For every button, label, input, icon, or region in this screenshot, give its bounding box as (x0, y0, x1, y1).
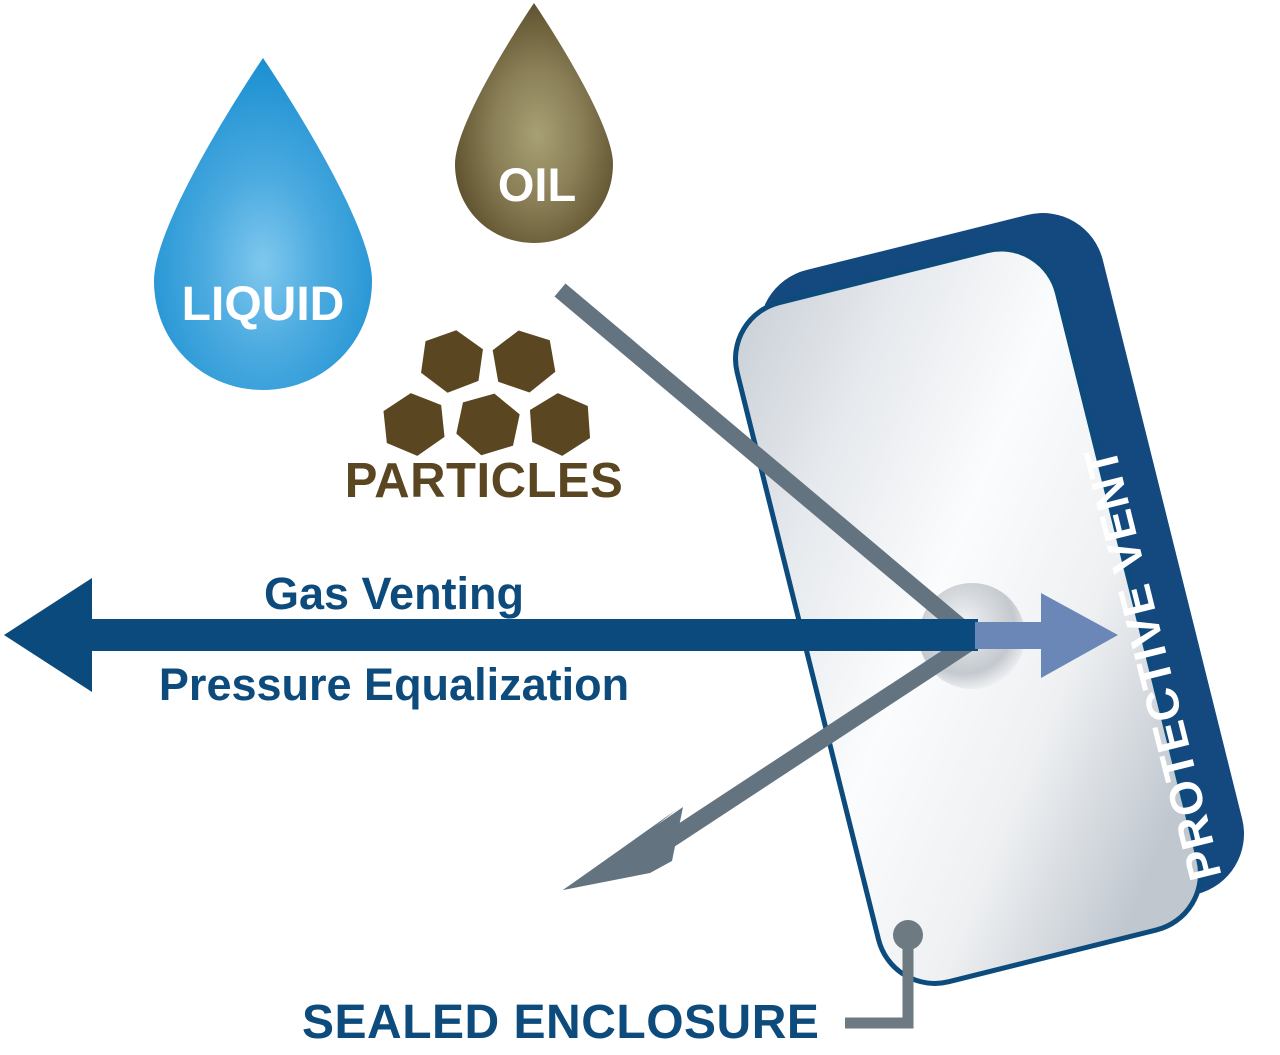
particles-label: PARTICLES (345, 454, 624, 508)
gas-venting-label: Gas Venting (264, 568, 524, 619)
diagram-root: PROTECTIVE VENT LIQUID (0, 0, 1280, 1055)
oil-droplet-label: OIL (498, 158, 576, 211)
oil-droplet-graphic: OIL (455, 3, 613, 243)
pressure-equalization-label: Pressure Equalization (159, 659, 629, 710)
liquid-droplet-graphic: LIQUID (154, 58, 372, 390)
liquid-droplet-shape (154, 58, 372, 390)
particle-hexagon (490, 325, 558, 397)
gas-venting-arrow-shaft (92, 619, 978, 651)
particles-cluster-graphic: PARTICLES (345, 325, 624, 508)
particle-hexagon (529, 391, 591, 458)
sealed-enclosure-leader-dot (893, 920, 923, 950)
particle-hexagon (453, 388, 523, 462)
particle-hexagon (382, 390, 446, 459)
protective-vent-diagram: PROTECTIVE VENT LIQUID (0, 0, 1280, 1055)
liquid-droplet-label: LIQUID (182, 278, 345, 331)
sealed-enclosure-label: SEALED ENCLOSURE (302, 996, 819, 1049)
particle-hexagon (419, 326, 485, 396)
gas-venting-arrowhead (4, 578, 92, 692)
